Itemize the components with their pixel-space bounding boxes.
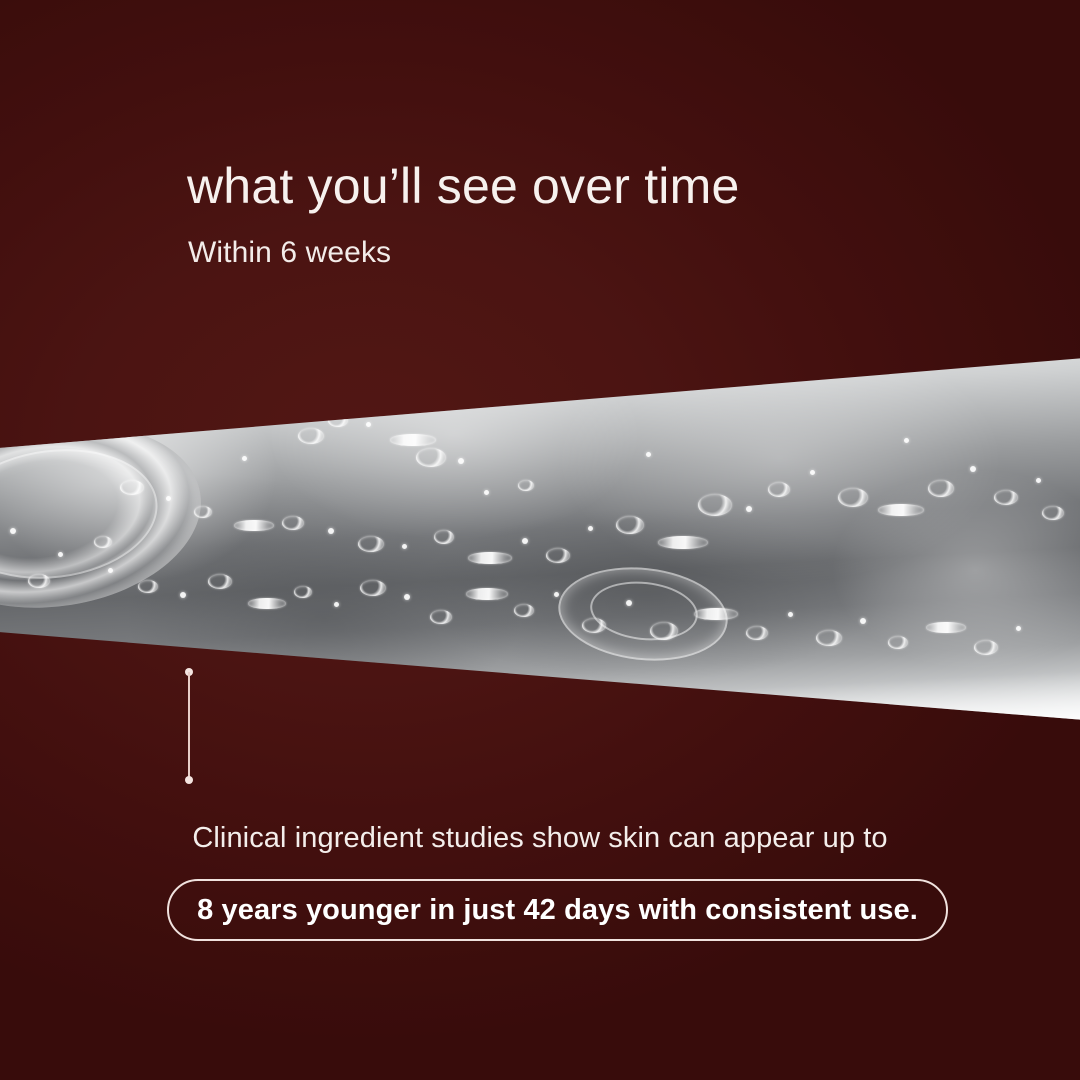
page-title: what you’ll see over time bbox=[187, 157, 739, 215]
connector-stem bbox=[188, 672, 190, 780]
page-subtitle: Within 6 weeks bbox=[188, 236, 391, 270]
claim-intro-text: Clinical ingredient studies show skin ca… bbox=[0, 822, 1080, 855]
promo-poster: what you’ll see over time Within 6 weeks… bbox=[0, 0, 1080, 1080]
claim-highlight-pill: 8 years younger in just 42 days with con… bbox=[167, 879, 948, 941]
gel-edge-highlight bbox=[0, 330, 1080, 730]
vertical-connector-line bbox=[185, 668, 193, 784]
serum-gel-texture-band bbox=[0, 330, 1080, 730]
claim-pill-text: 8 years younger in just 42 days with con… bbox=[197, 894, 918, 927]
connector-cap-bottom bbox=[185, 776, 193, 784]
